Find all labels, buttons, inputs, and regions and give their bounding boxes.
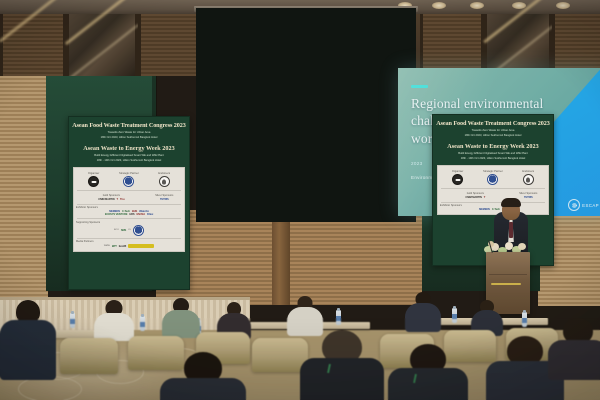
- section-label: Strategic Partner: [111, 172, 146, 175]
- water-bottle: [336, 310, 341, 325]
- person-body: [94, 313, 134, 341]
- person-body: [162, 310, 200, 338]
- banner-section-gold: Gold Sponsors CNIM MARTIN T Tiru: [76, 194, 147, 201]
- divider: [77, 218, 181, 219]
- wall-panel-wood: [552, 14, 600, 76]
- banner-sponsor-card: Organiser Strategic Partner Endorsers Go…: [437, 165, 549, 215]
- silver-sponsor-logo: TETRIS: [160, 198, 169, 201]
- media-partner-logo-bar: [128, 244, 154, 248]
- media-partner-logo: WMW: [104, 245, 110, 247]
- speaker-hair: [501, 198, 521, 207]
- section-label: Organiser: [76, 172, 111, 175]
- divider: [77, 238, 181, 239]
- banner-row-gold-silver: Gold Sponsors CNIM MARTIN T Tiru Silver …: [76, 193, 182, 202]
- supporting-logo: ECO: [114, 229, 119, 231]
- strategic-partner-logo-icon: [487, 174, 498, 185]
- audience-member: [160, 298, 202, 338]
- organiser-logo-icon: [88, 176, 99, 187]
- wall-panel-marble: [484, 14, 552, 76]
- supporting-logo: CL: [128, 229, 131, 231]
- banner-section-silver: Silver Sponsors TETRIS: [147, 194, 182, 201]
- speaker-tie: [509, 222, 513, 238]
- exhibitor-logo: SIEMENS: [479, 208, 490, 211]
- person-body: [548, 340, 600, 380]
- section-label: Organiser: [440, 170, 475, 173]
- banner-heading-1: Asean Food Waste Treatment Congress 2023: [71, 123, 187, 130]
- water-bottle: [452, 308, 457, 323]
- organiser-logo-icon: [452, 174, 463, 185]
- section-label: Exhibitor Sponsors: [76, 206, 182, 209]
- section-label: Strategic Partner: [475, 170, 510, 173]
- water-bottle: [522, 312, 527, 327]
- podium-gold-band: [491, 283, 521, 285]
- section-label: Gold Sponsors: [440, 192, 511, 195]
- wood-slat-wall-right: [290, 210, 422, 305]
- wall-panel-wood: [420, 14, 484, 76]
- banner-subheading-1a: Towards Zero Waste for Urban Area: [73, 131, 185, 134]
- banner-subheading-1b: 18th Oct 2023, Hilton Sukhumvit Bangkok …: [437, 134, 549, 137]
- section-label: Exhibitor Sponsors: [440, 204, 546, 207]
- section-label: Endorsers: [147, 172, 182, 175]
- silver-sponsor-logo: TETRIS: [524, 196, 533, 199]
- ceiling-light: [470, 2, 484, 9]
- supporting-logo-icon: [133, 225, 144, 236]
- gold-sponsor-logo: CNIM MARTIN: [98, 198, 114, 201]
- section-label: Endorsers: [511, 170, 546, 173]
- banner-section-endorsers: Endorsers: [511, 170, 546, 185]
- water-bottle: [70, 313, 75, 328]
- section-label: Silver Sponsors: [147, 194, 182, 197]
- person-body: [0, 320, 56, 380]
- audience-member-foreground: [388, 344, 468, 400]
- banner-section-strategic-partner: Strategic Partner: [111, 172, 146, 187]
- banner-section-organiser: Organiser: [76, 172, 111, 187]
- banner-section-exhibitor: Exhibitor Sponsors SIEMENS C-Tech BHS Wa…: [76, 206, 182, 216]
- banner-heading-1: Asean Food Waste Treatment Congress 2023: [435, 121, 551, 128]
- section-label: Media Partners: [76, 240, 182, 243]
- supporting-logo: SMS: [121, 229, 126, 232]
- water-bottle: [140, 316, 145, 331]
- audience-member: [92, 300, 136, 340]
- ceiling-light: [432, 2, 446, 9]
- banner-subheading-2b: 18th - 19th Oct 2023, Hilton Sukhumvit B…: [437, 157, 549, 160]
- gold-sponsor-logo: Tiru: [120, 198, 124, 201]
- banner-section-supporting: Supporting Sponsors ECO SMS CL: [76, 221, 182, 236]
- exhibitor-logo: ENVEA: [137, 213, 145, 216]
- banner-section-gold: Gold Sponsors CNIM MARTIN T: [440, 192, 511, 199]
- wall-panel-wood: [138, 14, 200, 76]
- banner-section-exhibitor: Exhibitor Sponsors SIEMENS C-Tech BHS: [440, 204, 546, 211]
- divider: [77, 190, 181, 191]
- exhibitor-logo: C-Tech: [492, 208, 500, 211]
- divider: [77, 204, 181, 205]
- banner-section-organiser: Organiser: [440, 170, 475, 185]
- exhibitor-logo: ECOSYS VENTURE: [105, 213, 128, 216]
- banner-row-gold-silver: Gold Sponsors CNIM MARTIN T Silver Spons…: [440, 191, 546, 200]
- projection-screen: Regional environmental challenges and ES…: [196, 8, 416, 222]
- endorser-logo-icon: [159, 176, 170, 187]
- audience-member: [404, 292, 442, 332]
- banner-section-endorsers: Endorsers: [147, 172, 182, 187]
- wood-post: [272, 210, 290, 305]
- audience-member-foreground: [548, 318, 600, 378]
- endorser-logo-icon: [523, 174, 534, 185]
- side-wall-left: [0, 76, 48, 306]
- divider: [441, 202, 545, 203]
- media-partner-logo: BPT: [112, 245, 117, 248]
- person-body: [388, 368, 468, 400]
- banner-section-strategic-partner: Strategic Partner: [475, 170, 510, 185]
- divider: [441, 188, 545, 189]
- exhibitor-logo: Filtec: [147, 213, 153, 216]
- banner-subheading-2b: 18th - 19th Oct 2023, Hilton Sukhumvit B…: [73, 159, 185, 162]
- audience-member-foreground: [300, 330, 384, 400]
- person-body: [405, 303, 441, 332]
- person-body: [300, 358, 384, 400]
- gold-sponsor-logo: T: [484, 196, 485, 199]
- audience-member-foreground: [160, 352, 246, 400]
- banner-heading-2: Asean Waste to Energy Week 2023: [435, 144, 551, 151]
- banner-subheading-2a: Build Energy Efficient Digitalised Smart…: [73, 154, 185, 157]
- section-label: Silver Sponsors: [511, 192, 546, 195]
- banner-row-top: Organiser Strategic Partner Endorsers: [440, 169, 546, 186]
- banner-sponsor-card: Organiser Strategic Partner Endorsers Go…: [73, 167, 185, 252]
- banner-subheading-2a: Build Energy Efficient Digitalised Smart…: [437, 152, 549, 155]
- media-partner-logo: EcoWI: [119, 245, 126, 248]
- person-body: [160, 378, 246, 400]
- conference-photo: Regional environmental challenges and ES…: [0, 0, 600, 400]
- section-label: Gold Sponsors: [76, 194, 147, 197]
- wall-panel-wood: [0, 14, 66, 76]
- strategic-partner-logo-icon: [123, 176, 134, 187]
- banner-subheading-1b: 18th Oct 2023, Hilton Sukhumvit Bangkok …: [73, 136, 185, 139]
- banner-heading-2: Asean Waste to Energy Week 2023: [71, 146, 187, 153]
- gold-sponsor-logo: CNIM MARTIN: [465, 196, 481, 199]
- audience-member-foreground: [0, 300, 56, 380]
- exhibitor-logo: HRS: [129, 213, 134, 216]
- banner-row-top: Organiser Strategic Partner Endorsers: [76, 171, 182, 188]
- ceiling-light: [556, 2, 570, 9]
- banner-section-media: Media Partners WMW BPT EcoWI: [76, 240, 182, 248]
- section-label: Supporting Sponsors: [76, 221, 182, 224]
- sponsor-banner-left: Asean Food Waste Treatment Congress 2023…: [68, 116, 190, 290]
- chair: [60, 338, 118, 374]
- wall-panel-marble: [66, 14, 138, 76]
- gold-sponsor-logo: T: [117, 198, 118, 201]
- banner-subheading-1a: Towards Zero Waste for Urban Area: [437, 129, 549, 132]
